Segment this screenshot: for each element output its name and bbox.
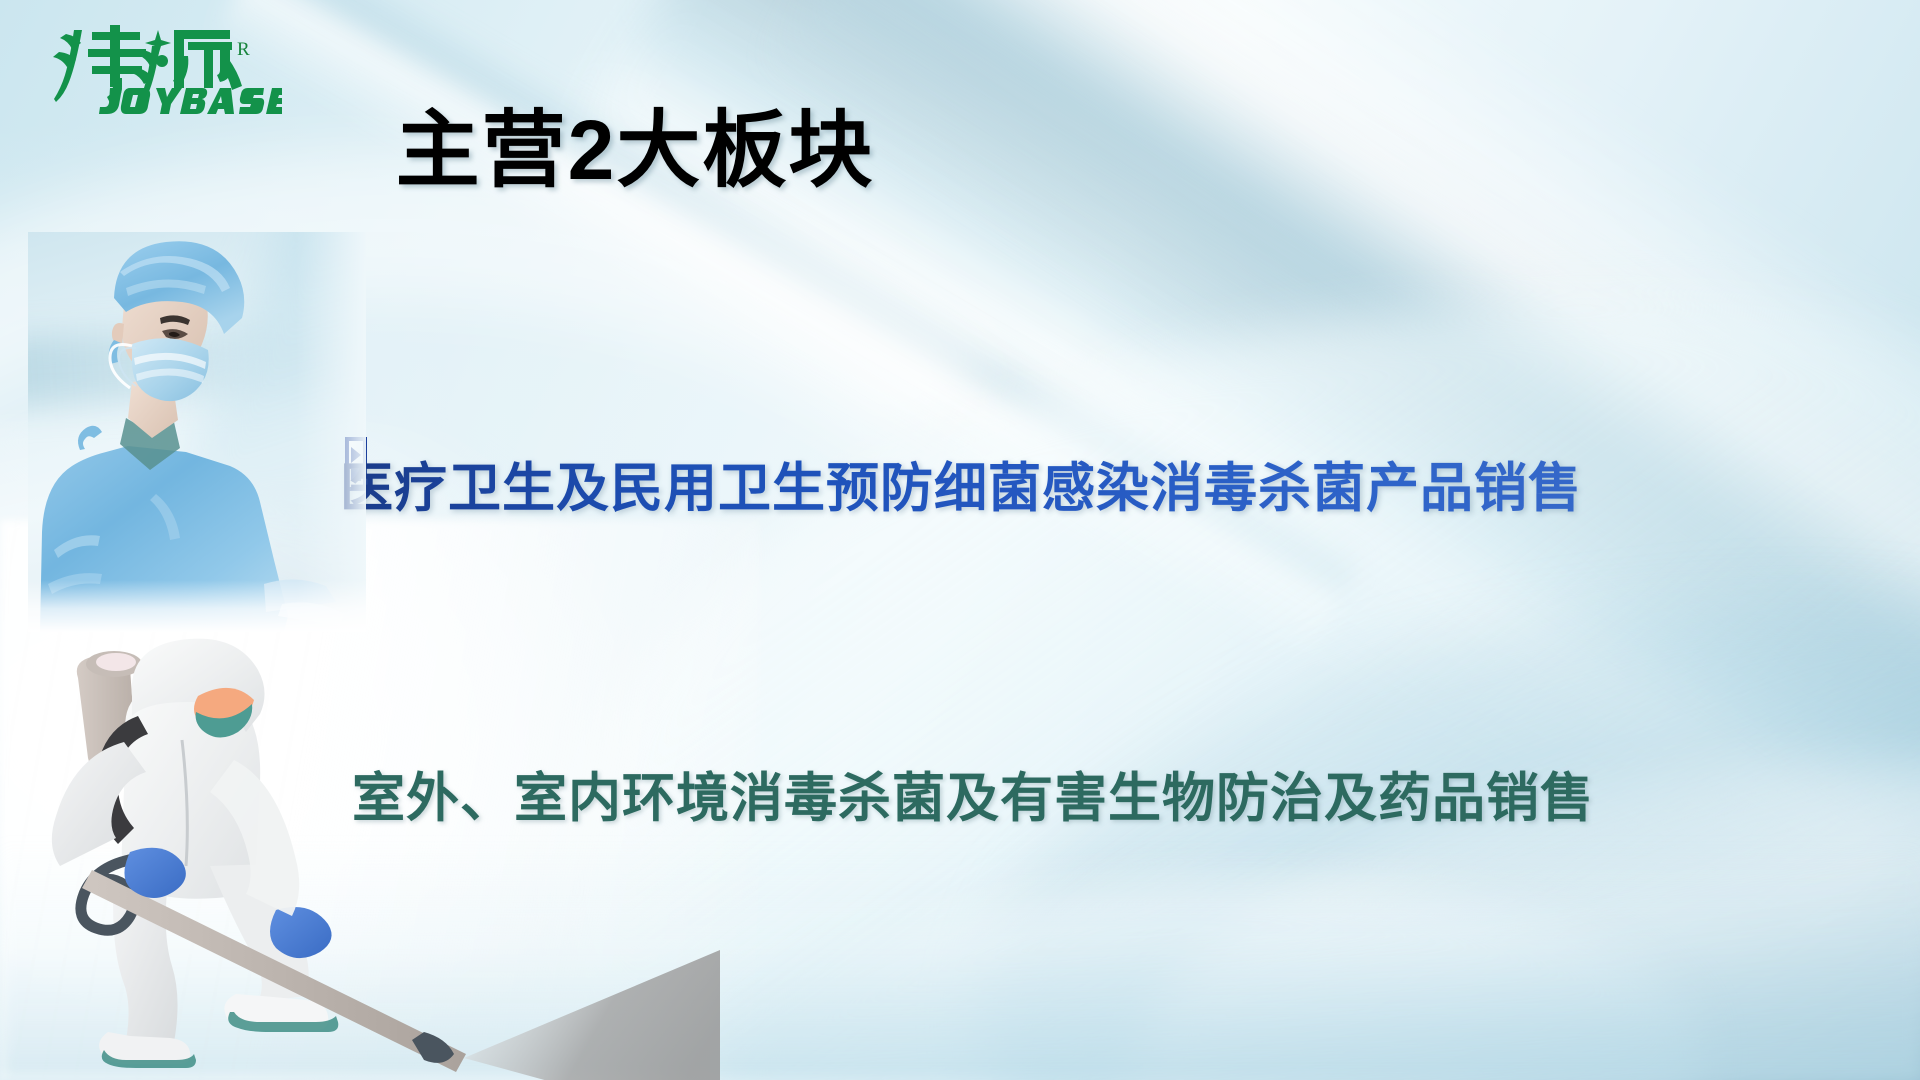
medical-worker-photo — [28, 232, 366, 632]
page-title: 主营2大板块 — [0, 108, 1270, 192]
section-label-environment: 室外、室内环境消毒杀菌及有害生物防治及药品销售 — [352, 770, 1594, 828]
trademark-r-icon: R — [237, 40, 250, 59]
spray-worker-illustration — [20, 620, 720, 1080]
section-label-medical: 医疗卫生及民用卫生预防细菌感染消毒杀菌产品销售 — [340, 460, 1582, 518]
glove-front — [270, 907, 332, 958]
slide-root: R 主营2大板块 — [0, 0, 1920, 1080]
spray-cone — [464, 950, 720, 1080]
brand-logo[interactable]: R — [52, 18, 282, 114]
